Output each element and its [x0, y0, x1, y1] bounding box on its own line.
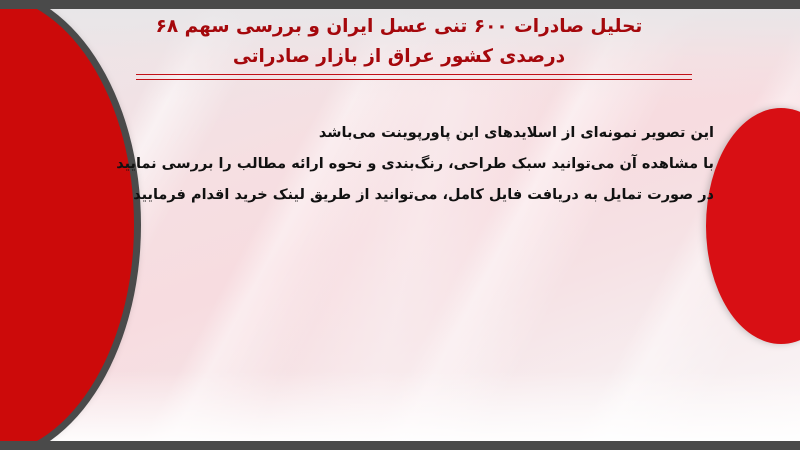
panel-bottom-fade: [0, 371, 800, 441]
body-line-3: در صورت تمایل به دریافت فایل کامل، می‌تو…: [90, 180, 714, 211]
title-line-1: تحلیل صادرات ۶۰۰ تنی عسل ایران و بررسی س…: [108, 12, 690, 42]
body-line-2: با مشاهده آن می‌توانید سبک طراحی، رنگ‌بن…: [90, 149, 714, 180]
presentation-slide: تحلیل صادرات ۶۰۰ تنی عسل ایران و بررسی س…: [0, 0, 800, 450]
title-line-2: درصدی کشور عراق از بازار صادراتی: [108, 42, 690, 72]
body-line-1: این تصویر نمونه‌ای از اسلایدهای این پاور…: [90, 118, 714, 149]
slide-title: تحلیل صادرات ۶۰۰ تنی عسل ایران و بررسی س…: [108, 12, 690, 72]
slide-frame-bottom-bar: [0, 441, 800, 450]
title-underline-rule: [136, 74, 692, 80]
slide-body-text: این تصویر نمونه‌ای از اسلایدهای این پاور…: [90, 118, 714, 211]
slide-frame-top-bar: [0, 0, 800, 9]
